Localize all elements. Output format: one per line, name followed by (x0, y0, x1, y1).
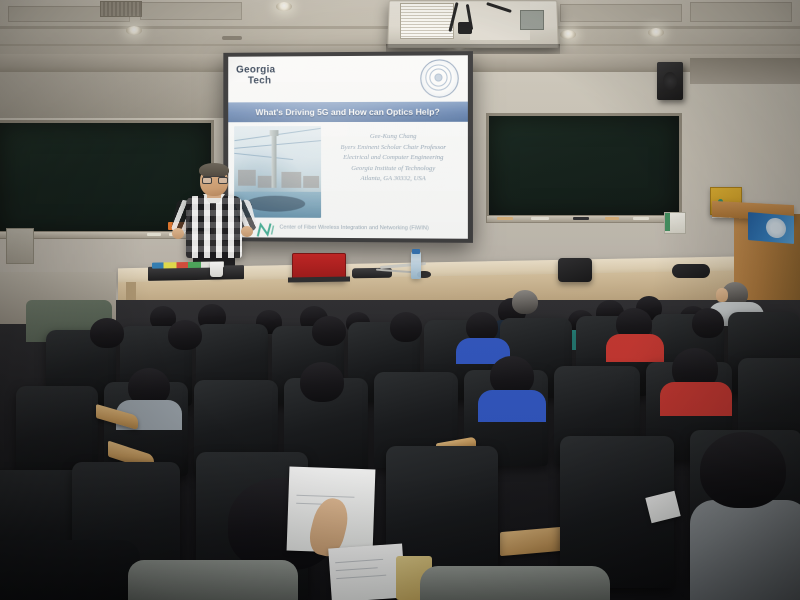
slide-header: Georgia Tech (228, 55, 468, 102)
slide-footer-text: Center of Fiber Wireless Integration and… (279, 225, 428, 232)
audience-shoulders-red (606, 334, 664, 362)
wall-recess-right (690, 58, 800, 84)
audience-shoulders-blue (478, 390, 546, 422)
seat-headrest-trim (128, 560, 298, 600)
speaker-cone-icon (663, 72, 677, 90)
slide-title: What's Driving 5G and How can Optics Hel… (256, 107, 440, 117)
lecture-hall-photo: Georgia Tech What's Driving 5G and How c… (0, 0, 800, 600)
presenter-left-hand (172, 228, 184, 239)
byline-line-3: Georgia Institute of Technology (323, 163, 464, 174)
byline-line-4: Atlanta, GA 30332, USA (323, 174, 464, 185)
wall-control-box-indicator (665, 213, 670, 231)
audience-shoulders-red (660, 382, 732, 416)
foreground-person-head (700, 432, 786, 508)
foreground-person-shoulders (690, 500, 800, 600)
projector-connector (458, 22, 472, 34)
black-bag (558, 258, 592, 282)
seat-headrest-trim (420, 566, 610, 600)
ceiling-vent (100, 1, 142, 17)
ceiling-hook (222, 36, 242, 40)
logo-line-2: Tech (248, 75, 311, 86)
ceiling-downlight (560, 30, 576, 39)
byline-line-0: Gee-Kung Chang (323, 132, 464, 143)
chalkboard-right (486, 113, 682, 222)
byline-line-2: Electrical and Computer Engineering (323, 153, 464, 164)
bottle-cap (412, 249, 420, 254)
white-cup (210, 262, 223, 277)
institutional-seal-icon (420, 59, 458, 97)
chalk-tray-right (486, 215, 678, 223)
ceiling-downlight (276, 2, 292, 11)
audience-head (692, 308, 724, 338)
handout-paper-stack (328, 543, 406, 600)
audience-hand (716, 288, 728, 302)
byline-line-1: Byers Eminent Scholar Chair Professor (323, 142, 464, 153)
audience-head-gray (512, 290, 538, 314)
water-bottle (411, 251, 421, 279)
presenter-hair (199, 163, 229, 177)
projector-vent-grille (400, 3, 454, 39)
slide-footer: Center of Fiber Wireless Integration and… (228, 221, 468, 238)
audience-head (168, 320, 202, 350)
presenter-glasses-icon (203, 176, 225, 182)
audience-head (390, 312, 422, 342)
projection-screen: Georgia Tech What's Driving 5G and How c… (228, 55, 468, 239)
georgia-tech-logo: Georgia Tech (236, 64, 311, 90)
logo-line-1: Georgia (236, 64, 311, 75)
audience-head (300, 362, 344, 402)
wall-fixture-left (6, 228, 34, 264)
presenter-torso (186, 196, 242, 258)
presenter-right-hand (241, 226, 253, 237)
ceiling-downlight (126, 26, 142, 35)
slide-title-band: What's Driving 5G and How can Optics Hel… (228, 102, 468, 123)
slide-byline: Gee-Kung Chang Byers Eminent Scholar Cha… (323, 132, 464, 185)
projector-control-panel (520, 10, 544, 30)
fiwin-logo-icon (256, 222, 278, 237)
audience-head (90, 318, 124, 348)
wall-upper-recess (0, 72, 230, 118)
black-pouch (672, 264, 710, 278)
audience-head (312, 316, 346, 346)
ceiling-downlight (648, 28, 664, 37)
foreground-seat-back (0, 540, 140, 600)
